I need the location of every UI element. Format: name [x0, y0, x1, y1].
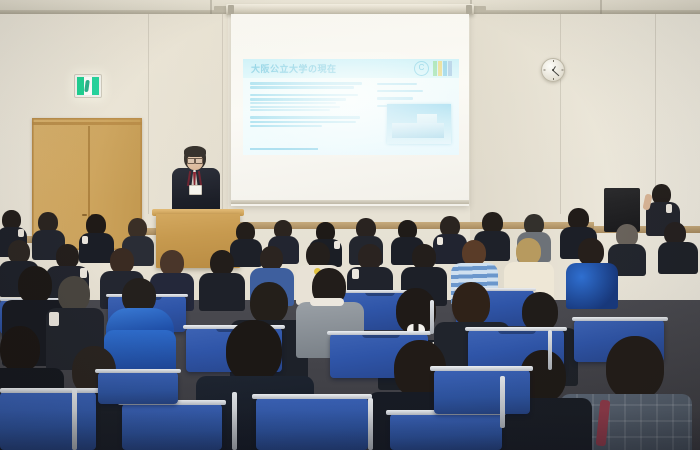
chair-leg	[430, 300, 434, 334]
shirt-collar	[18, 229, 24, 237]
head	[452, 282, 490, 326]
chair-seat[interactable]	[390, 414, 502, 450]
slide-paragraph	[250, 82, 368, 89]
door-handle[interactable]	[82, 214, 87, 216]
baseboard	[228, 222, 476, 229]
head	[58, 276, 90, 312]
slide-body-text	[250, 82, 368, 132]
screen-housing-cap	[228, 5, 234, 14]
clock-tick	[544, 70, 546, 71]
chair-leg	[548, 330, 552, 370]
shirt-collar	[80, 268, 87, 278]
shirt-collar	[666, 204, 672, 213]
slide-accent-bar	[448, 61, 452, 76]
speaker	[168, 146, 224, 218]
shirt-collar	[352, 269, 359, 279]
chair-seat-rail	[95, 369, 181, 373]
clock-tick	[553, 78, 554, 80]
chair-top-rail	[572, 317, 668, 321]
shirt-collar	[49, 312, 59, 326]
head	[250, 282, 288, 324]
slide-accent-bar	[443, 61, 447, 76]
head	[226, 320, 282, 382]
clock-center-pin	[552, 69, 554, 71]
door-header-trim	[32, 122, 142, 125]
lecture-hall-photo: 大阪公立大学の現在 C	[0, 0, 700, 450]
wall-clock	[541, 58, 565, 82]
chair-leg	[232, 392, 237, 450]
shirt-collar	[437, 237, 443, 245]
slide-accent-bars	[433, 61, 452, 76]
projection-screen-bottom-edge	[231, 200, 469, 204]
slide-underline	[250, 148, 318, 151]
head	[18, 266, 52, 304]
torso	[230, 239, 262, 267]
speaker-name-badge	[189, 185, 202, 195]
chair-seat-rail	[0, 388, 100, 393]
slide-accent-bar	[438, 61, 442, 76]
head	[522, 292, 558, 332]
clock-tick	[562, 70, 564, 71]
exit-sign-green-left	[77, 77, 84, 95]
speaker-hair	[184, 146, 206, 157]
slide-accent-bar	[433, 61, 437, 76]
screen-housing-cap	[466, 5, 472, 14]
university-logo-icon: C	[414, 61, 429, 76]
slide-campus-photo	[387, 104, 451, 144]
shirt-collar	[334, 241, 340, 249]
chair-seat[interactable]	[434, 370, 530, 414]
exit-sign	[74, 74, 102, 98]
slide-paragraph	[250, 116, 368, 127]
eyeglasses-icon	[187, 158, 203, 163]
chair-seat-rail	[252, 394, 372, 399]
chair-seat[interactable]	[0, 392, 96, 450]
slide-title: 大阪公立大学の現在	[251, 62, 337, 75]
chair-top-rail	[327, 331, 431, 335]
chair-seat-rail	[430, 366, 533, 371]
chair-seat[interactable]	[256, 398, 368, 450]
chair-leg	[500, 376, 505, 428]
shirt-collar	[82, 236, 88, 244]
wall-seam	[148, 14, 149, 214]
head	[606, 336, 664, 400]
exit-sign-green-right	[92, 77, 99, 95]
torso	[658, 242, 698, 274]
chair-seat[interactable]	[122, 404, 222, 450]
clock-tick	[553, 60, 554, 62]
head	[578, 238, 604, 266]
slide-paragraph	[250, 94, 368, 112]
head	[516, 238, 541, 265]
torso	[199, 273, 245, 311]
head	[0, 326, 40, 372]
clock-minute-hand	[553, 70, 559, 76]
projected-slide: 大阪公立大学の現在 C	[243, 59, 459, 155]
chair-leg	[368, 398, 373, 450]
shirt-collar	[310, 298, 344, 306]
torso	[566, 263, 618, 309]
wall-seam	[560, 14, 561, 214]
chair-seat[interactable]	[98, 372, 178, 404]
chair-leg	[72, 388, 77, 450]
wall-seam	[655, 14, 656, 204]
